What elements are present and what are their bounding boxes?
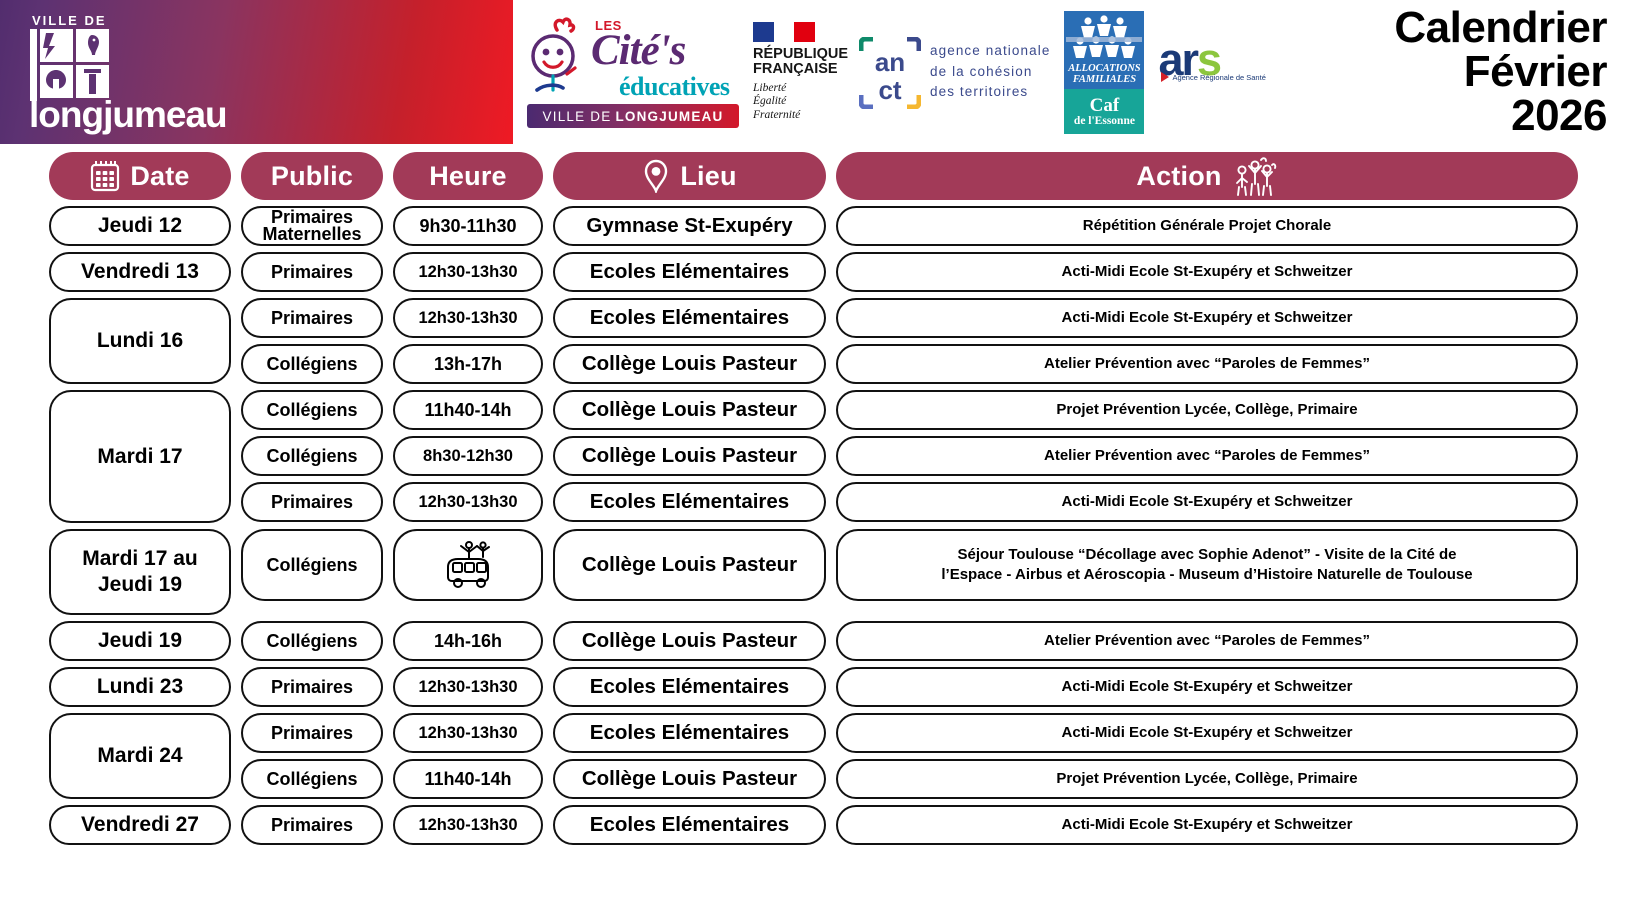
title-line-calendrier: Calendrier <box>1351 6 1607 50</box>
caf-dept: de l'Essonne <box>1074 115 1135 127</box>
lieu-cell: Ecoles Elémentaires <box>553 482 826 522</box>
public-cell: Primaires <box>241 252 383 292</box>
calendar-icon <box>90 160 120 192</box>
title-line-year: 2026 <box>1351 94 1607 138</box>
rf-motto-liberte: Liberté <box>753 82 845 96</box>
lieu-cell: Collège Louis Pasteur <box>553 436 826 476</box>
cites-ville-de: VILLE DE <box>543 109 612 124</box>
date-cell: Vendredi 27 <box>49 805 231 845</box>
table-row: Lundi 23 Primaires 12h30-13h30 Ecoles El… <box>44 664 1583 710</box>
heure-cell: 12h30-13h30 <box>393 482 543 522</box>
page-header: VILLE DE longjumeau <box>0 0 1627 144</box>
table-row-group: Mardi 24 Primaires 12h30-13h30 Ecoles El… <box>44 710 1583 802</box>
heure-cell: 12h30-13h30 <box>393 252 543 292</box>
public-cell: Collégiens <box>241 390 383 430</box>
anct-line1: agence nationale <box>930 41 1050 62</box>
anct-line2: de la cohésion <box>930 62 1050 83</box>
public-cell: Primaires <box>241 713 383 753</box>
action-cell: Acti-Midi Ecole St-Exupéry et Schweitzer <box>836 482 1578 522</box>
heure-cell: 11h40-14h <box>393 390 543 430</box>
public-cell: Primaires <box>241 482 383 522</box>
action-cell: Atelier Prévention avec “Paroles de Femm… <box>836 436 1578 476</box>
table-row: Collégiens 13h-17h Collège Louis Pasteur… <box>236 341 1583 387</box>
column-header-date: Date <box>49 152 231 200</box>
lieu-cell: Ecoles Elémentaires <box>553 252 826 292</box>
date-cell: Lundi 23 <box>49 667 231 707</box>
ville-de-label: VILLE DE <box>32 13 227 28</box>
anct-line3: des territoires <box>930 82 1050 103</box>
svg-text:an: an <box>875 47 905 77</box>
partner-logos: LES Cité's éducatives VILLE DE LONGJUMEA… <box>513 0 1351 144</box>
column-header-heure: Heure <box>393 152 543 200</box>
cites-wordmark: Cité's <box>591 26 685 75</box>
caf-word: Caf <box>1090 96 1120 115</box>
action-cell: Atelier Prévention avec “Paroles de Femm… <box>836 344 1578 384</box>
lieu-cell: Collège Louis Pasteur <box>553 759 826 799</box>
page-title: Calendrier Février 2026 <box>1351 0 1627 144</box>
caf-logo: ALLOCATIONS FAMILIALES Caf de l'Essonne <box>1064 11 1144 134</box>
action-cell: Répétition Générale Projet Chorale <box>836 206 1578 246</box>
date-line-2: Jeudi 19 <box>98 573 182 596</box>
bus-trip-icon <box>436 539 500 591</box>
public-cell: Primaires <box>241 805 383 845</box>
french-flag-icon <box>753 22 815 42</box>
column-header-lieu: Lieu <box>553 152 826 200</box>
date-cell: Mardi 24 <box>49 713 231 799</box>
action-cell: Acti-Midi Ecole St-Exupéry et Schweitzer <box>836 713 1578 753</box>
cites-educatives-logo: LES Cité's éducatives VILLE DE LONGJUMEA… <box>527 16 739 128</box>
date-cell: Vendredi 13 <box>49 252 231 292</box>
heure-cell: 12h30-13h30 <box>393 667 543 707</box>
heure-cell: 12h30-13h30 <box>393 805 543 845</box>
heure-cell: 13h-17h <box>393 344 543 384</box>
public-cell: Collégiens <box>241 436 383 476</box>
public-cell: Collégiens <box>241 759 383 799</box>
anct-mark-icon: an ct <box>859 37 921 107</box>
lieu-cell: Collège Louis Pasteur <box>553 390 826 430</box>
table-header-row: Date Public Heure Lieu Action <box>44 149 1583 203</box>
location-pin-icon <box>642 159 670 193</box>
heure-cell: 8h30-12h30 <box>393 436 543 476</box>
lieu-cell: Ecoles Elémentaires <box>553 805 826 845</box>
rf-motto-fraternite: Fraternité <box>753 109 845 123</box>
public-line-2: Maternelles <box>262 224 361 244</box>
educatives-wordmark: éducatives <box>619 72 730 102</box>
action-cell: Acti-Midi Ecole St-Exupéry et Schweitzer <box>836 805 1578 845</box>
public-cell: PrimairesMaternelles <box>241 206 383 246</box>
rf-motto-egalite: Égalité <box>753 95 845 109</box>
action-cell: Séjour Toulouse “Décollage avec Sophie A… <box>836 529 1578 601</box>
lieu-cell: Collège Louis Pasteur <box>553 529 826 601</box>
action-line-2: l’Espace - Airbus et Aéroscopia - Museum… <box>941 566 1472 583</box>
table-row: Vendredi 27 Primaires 12h30-13h30 Ecoles… <box>44 802 1583 848</box>
table-row: Collégiens 11h40-14h Collège Louis Paste… <box>236 387 1583 433</box>
people-celebrating-icon <box>1232 155 1278 197</box>
table-row-group: Lundi 16 Primaires 12h30-13h30 Ecoles El… <box>44 295 1583 387</box>
lieu-cell: Ecoles Elémentaires <box>553 298 826 338</box>
caf-alloc-line1: ALLOCATIONS <box>1068 63 1140 74</box>
action-cell: Projet Prévention Lycée, Collège, Primai… <box>836 390 1578 430</box>
action-cell: Acti-Midi Ecole St-Exupéry et Schweitzer <box>836 298 1578 338</box>
table-row: Primaires 12h30-13h30 Ecoles Elémentaire… <box>236 295 1583 341</box>
heure-cell: 12h30-13h30 <box>393 713 543 753</box>
heure-cell <box>393 529 543 601</box>
table-row: Jeudi 12 PrimairesMaternelles 9h30-11h30… <box>44 203 1583 249</box>
date-cell: Mardi 17 auJeudi 19 <box>49 529 231 615</box>
city-name: longjumeau <box>29 99 227 130</box>
date-cell: Mardi 17 <box>49 390 231 523</box>
lieu-cell: Collège Louis Pasteur <box>553 344 826 384</box>
lieu-cell: Gymnase St-Exupéry <box>553 206 826 246</box>
child-face-icon <box>527 16 587 109</box>
lieu-cell: Ecoles Elémentaires <box>553 713 826 753</box>
public-cell: Collégiens <box>241 344 383 384</box>
table-row: Jeudi 19 Collégiens 14h-16h Collège Loui… <box>44 618 1583 664</box>
public-cell: Primaires <box>241 298 383 338</box>
republique-francaise-logo: RÉPUBLIQUE FRANÇAISE Liberté Égalité Fra… <box>753 22 845 122</box>
table-row: Primaires 12h30-13h30 Ecoles Elémentaire… <box>236 710 1583 756</box>
table-row: Vendredi 13 Primaires 12h30-13h30 Ecoles… <box>44 249 1583 295</box>
svg-text:ct: ct <box>878 75 901 105</box>
table-row: Primaires 12h30-13h30 Ecoles Elémentaire… <box>236 479 1583 525</box>
column-header-date-label: Date <box>130 161 189 192</box>
ville-de-longjumeau-logo: VILLE DE longjumeau <box>30 13 227 130</box>
heure-cell: 11h40-14h <box>393 759 543 799</box>
column-header-heure-label: Heure <box>429 161 507 192</box>
ars-arrow-icon <box>1161 72 1169 82</box>
heure-cell: 12h30-13h30 <box>393 298 543 338</box>
table-row: Mardi 17 auJeudi 19 Collégiens Coll <box>44 526 1583 618</box>
date-line-1: Mardi 17 au <box>82 547 198 570</box>
city-crest-icon <box>30 29 227 101</box>
date-cell: Lundi 16 <box>49 298 231 384</box>
action-cell: Acti-Midi Ecole St-Exupéry et Schweitzer <box>836 667 1578 707</box>
heure-cell: 9h30-11h30 <box>393 206 543 246</box>
caf-alloc-line2: FAMILIALES <box>1068 74 1140 85</box>
public-cell: Collégiens <box>241 621 383 661</box>
ars-logo: ars Agence Régionale de Santé <box>1158 37 1250 107</box>
table-row: Collégiens 8h30-12h30 Collège Louis Past… <box>236 433 1583 479</box>
date-cell: Jeudi 12 <box>49 206 231 246</box>
anct-logo: an ct agence nationale de la cohésion de… <box>859 37 1050 107</box>
heure-cell: 14h-16h <box>393 621 543 661</box>
calendar-table: Date Public Heure Lieu Action <box>44 144 1583 848</box>
rf-line2: FRANÇAISE <box>753 62 845 77</box>
public-cell: Primaires <box>241 667 383 707</box>
column-header-lieu-label: Lieu <box>680 161 736 192</box>
rf-line1: RÉPUBLIQUE <box>753 47 845 62</box>
column-header-action: Action <box>836 152 1578 200</box>
date-cell: Jeudi 19 <box>49 621 231 661</box>
action-cell: Acti-Midi Ecole St-Exupéry et Schweitzer <box>836 252 1578 292</box>
city-banner: VILLE DE longjumeau <box>0 0 513 144</box>
cites-ville-name: LONGJUMEAU <box>615 109 723 124</box>
action-cell: Projet Prévention Lycée, Collège, Primai… <box>836 759 1578 799</box>
column-header-action-label: Action <box>1136 161 1221 192</box>
table-row-group: Mardi 17 Collégiens 11h40-14h Collège Lo… <box>44 387 1583 526</box>
column-header-public-label: Public <box>271 161 353 192</box>
action-line-1: Séjour Toulouse “Décollage avec Sophie A… <box>957 546 1456 563</box>
families-icon <box>1064 13 1144 69</box>
title-line-month: Février <box>1351 50 1607 94</box>
column-header-public: Public <box>241 152 383 200</box>
action-cell: Atelier Prévention avec “Paroles de Femm… <box>836 621 1578 661</box>
public-cell: Collégiens <box>241 529 383 601</box>
lieu-cell: Collège Louis Pasteur <box>553 621 826 661</box>
lieu-cell: Ecoles Elémentaires <box>553 667 826 707</box>
table-row: Collégiens 11h40-14h Collège Louis Paste… <box>236 756 1583 802</box>
ars-caption: Agence Régionale de Santé <box>1172 73 1265 82</box>
